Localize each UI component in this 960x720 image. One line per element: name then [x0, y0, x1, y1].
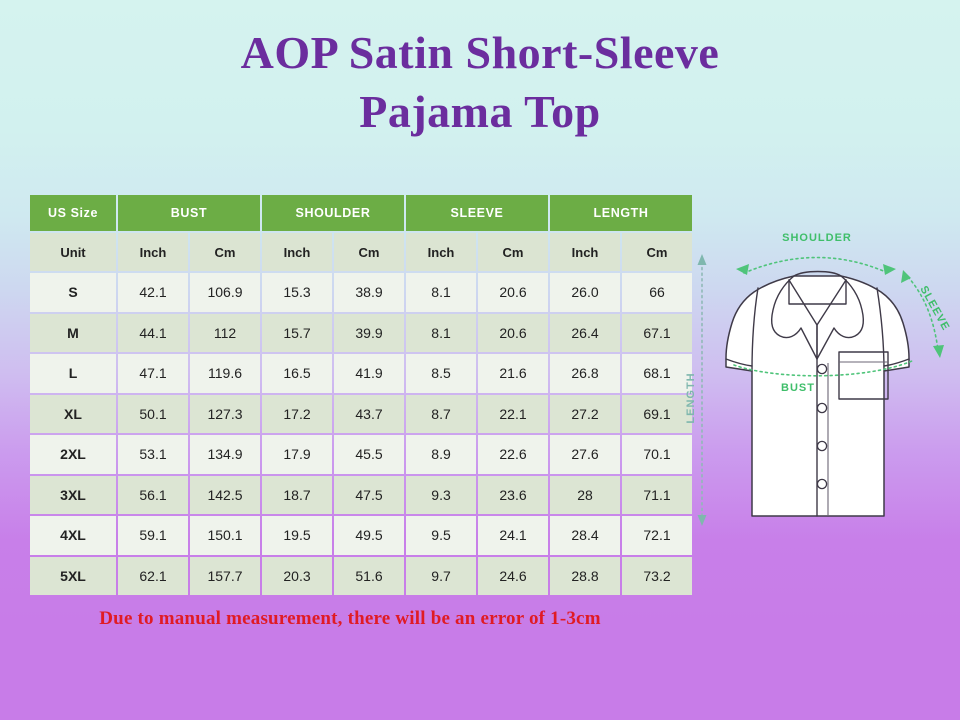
table-group-header-bust: BUST [118, 195, 260, 231]
table-cell-size: 4XL [30, 516, 116, 555]
shirt-button-1 [817, 364, 826, 373]
table-group-header-sleeve: SLEEVE [406, 195, 548, 231]
table-cell-size: 2XL [30, 435, 116, 474]
measurement-disclaimer: Due to manual measurement, there will be… [0, 608, 700, 630]
size-table-container: US SizeBUSTSHOULDERSLEEVELENGTH UnitInch… [28, 193, 674, 597]
table-group-header-shoulder: SHOULDER [262, 195, 404, 231]
table-cell-value: 43.7 [334, 395, 404, 434]
length-measure-arrow: LENGTH [685, 254, 707, 526]
shirt-button-4 [817, 479, 826, 488]
table-unit-cell: Inch [406, 233, 476, 271]
table-cell-size: L [30, 354, 116, 393]
table-cell-value: 119.6 [190, 354, 260, 393]
table-row: 2XL53.1134.917.945.58.922.627.670.1 [30, 435, 692, 474]
table-unit-cell: Cm [190, 233, 260, 271]
table-cell-value: 26.4 [550, 314, 620, 353]
page-title-line-1: AOP Satin Short-Sleeve [0, 24, 960, 83]
table-cell-value: 112 [190, 314, 260, 353]
table-cell-value: 28.4 [550, 516, 620, 555]
table-cell-value: 8.7 [406, 395, 476, 434]
size-chart-table: US SizeBUSTSHOULDERSLEEVELENGTH UnitInch… [28, 193, 694, 597]
table-cell-value: 56.1 [118, 476, 188, 515]
table-cell-value: 142.5 [190, 476, 260, 515]
table-row: XL50.1127.317.243.78.722.127.269.1 [30, 395, 692, 434]
table-cell-value: 9.7 [406, 557, 476, 596]
table-unit-cell: Inch [550, 233, 620, 271]
table-cell-value: 39.9 [334, 314, 404, 353]
table-cell-value: 26.0 [550, 273, 620, 312]
table-cell-value: 27.6 [550, 435, 620, 474]
table-cell-value: 51.6 [334, 557, 404, 596]
table-cell-value: 21.6 [478, 354, 548, 393]
table-cell-value: 49.5 [334, 516, 404, 555]
table-cell-value: 47.5 [334, 476, 404, 515]
table-cell-value: 8.5 [406, 354, 476, 393]
shirt-button-3 [817, 441, 826, 450]
table-cell-value: 127.3 [190, 395, 260, 434]
table-unit-cell: Cm [334, 233, 404, 271]
table-cell-value: 17.9 [262, 435, 332, 474]
table-cell-value: 19.5 [262, 516, 332, 555]
table-cell-value: 20.3 [262, 557, 332, 596]
table-cell-value: 9.5 [406, 516, 476, 555]
table-cell-value: 22.6 [478, 435, 548, 474]
length-label: LENGTH [685, 372, 697, 423]
table-unit-cell: Cm [478, 233, 548, 271]
table-cell-value: 62.1 [118, 557, 188, 596]
table-cell-size: M [30, 314, 116, 353]
table-cell-value: 17.2 [262, 395, 332, 434]
table-row: 4XL59.1150.119.549.59.524.128.472.1 [30, 516, 692, 555]
table-cell-value: 8.1 [406, 314, 476, 353]
table-cell-size: 3XL [30, 476, 116, 515]
table-cell-value: 20.6 [478, 273, 548, 312]
table-cell-value: 106.9 [190, 273, 260, 312]
table-row: 5XL62.1157.720.351.69.724.628.873.2 [30, 557, 692, 596]
table-cell-value: 16.5 [262, 354, 332, 393]
table-group-header-us-size: US Size [30, 195, 116, 231]
table-cell-value: 15.7 [262, 314, 332, 353]
table-cell-value: 44.1 [118, 314, 188, 353]
page-title-line-2: Pajama Top [0, 83, 960, 142]
table-group-header-row: US SizeBUSTSHOULDERSLEEVELENGTH [30, 195, 692, 231]
table-cell-value: 22.1 [478, 395, 548, 434]
table-cell-size: 5XL [30, 557, 116, 596]
table-group-header-length: LENGTH [550, 195, 692, 231]
table-cell-value: 38.9 [334, 273, 404, 312]
table-cell-value: 41.9 [334, 354, 404, 393]
shirt-illustration [726, 272, 909, 517]
table-cell-value: 26.8 [550, 354, 620, 393]
shoulder-label: SHOULDER [782, 232, 852, 244]
table-cell-value: 59.1 [118, 516, 188, 555]
table-cell-value: 157.7 [190, 557, 260, 596]
table-cell-value: 42.1 [118, 273, 188, 312]
table-cell-value: 27.2 [550, 395, 620, 434]
table-cell-value: 20.6 [478, 314, 548, 353]
table-cell-size: S [30, 273, 116, 312]
table-cell-value: 50.1 [118, 395, 188, 434]
table-cell-value: 8.9 [406, 435, 476, 474]
bust-label: BUST [781, 382, 815, 394]
table-row: L47.1119.616.541.98.521.626.868.1 [30, 354, 692, 393]
table-cell-size: XL [30, 395, 116, 434]
table-cell-value: 24.6 [478, 557, 548, 596]
garment-diagram: LENGTH SHOULDER SLEEVE [676, 228, 960, 540]
table-cell-value: 24.1 [478, 516, 548, 555]
table-cell-value: 28 [550, 476, 620, 515]
table-cell-value: 9.3 [406, 476, 476, 515]
sleeve-label: SLEEVE [917, 284, 951, 333]
table-cell-value: 28.8 [550, 557, 620, 596]
table-unit-cell: Inch [262, 233, 332, 271]
table-body: S42.1106.915.338.98.120.626.066M44.11121… [30, 273, 692, 595]
table-cell-value: 53.1 [118, 435, 188, 474]
shirt-button-2 [817, 403, 826, 412]
table-unit-cell: Inch [118, 233, 188, 271]
table-row: 3XL56.1142.518.747.59.323.62871.1 [30, 476, 692, 515]
table-cell-value: 18.7 [262, 476, 332, 515]
table-cell-value: 150.1 [190, 516, 260, 555]
table-cell-value: 8.1 [406, 273, 476, 312]
table-row: M44.111215.739.98.120.626.467.1 [30, 314, 692, 353]
size-chart-page: AOP Satin Short-Sleeve Pajama Top US Siz… [0, 0, 960, 720]
table-cell-value: 134.9 [190, 435, 260, 474]
table-row: S42.1106.915.338.98.120.626.066 [30, 273, 692, 312]
table-cell-value: 23.6 [478, 476, 548, 515]
table-cell-value: 15.3 [262, 273, 332, 312]
shoulder-measure-arrow: SHOULDER [736, 232, 896, 275]
table-unit-header-row: UnitInchCmInchCmInchCmInchCm [30, 233, 692, 271]
table-unit-header-cell: Unit [30, 233, 116, 271]
table-cell-value: 73.2 [622, 557, 692, 596]
table-cell-value: 47.1 [118, 354, 188, 393]
table-cell-value: 45.5 [334, 435, 404, 474]
page-title: AOP Satin Short-Sleeve Pajama Top [0, 24, 960, 142]
table-head: US SizeBUSTSHOULDERSLEEVELENGTH UnitInch… [30, 195, 692, 271]
